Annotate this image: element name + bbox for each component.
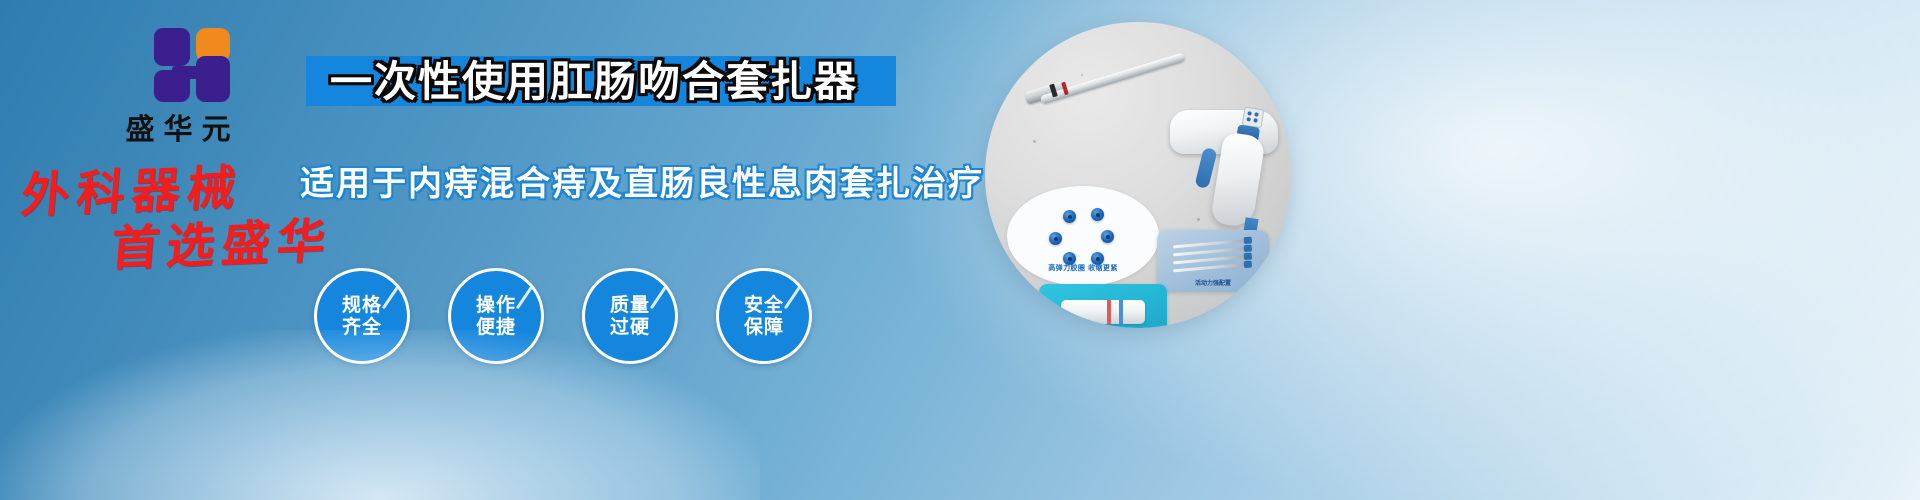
- slogan-line-2: 首选盛华: [109, 201, 336, 279]
- device-shaft: [1040, 52, 1186, 104]
- brand-logo-block[interactable]: 盛华元: [78, 26, 278, 148]
- slash-decor-icon: [382, 283, 401, 310]
- feature-badge-2-line1: 操作: [476, 294, 516, 316]
- product-photo[interactable]: 高弹力胶圈 收缩更紧 活动力强配置: [985, 22, 1291, 328]
- cartridge-inset: [1039, 284, 1167, 328]
- feature-badge-4[interactable]: 安全 保障: [716, 268, 812, 364]
- feature-badge-2-line2: 便捷: [476, 316, 516, 338]
- slash-decor-icon: [784, 283, 803, 310]
- feature-badge-1-line2: 齐全: [342, 316, 382, 338]
- feature-badge-3-line1: 质量: [610, 294, 650, 316]
- rubber-rings-inset: 高弹力胶圈 收缩更紧: [1007, 186, 1159, 286]
- promo-banner: 盛华元 外科器械 首选盛华 一次性使用肛肠吻合套扎器 适用于内痔混合痔及直肠良性…: [0, 0, 1920, 500]
- brand-name: 盛华元: [78, 106, 278, 148]
- feature-badge-1[interactable]: 规格 齐全: [314, 268, 410, 364]
- shenghuayuan-logo-icon: [132, 26, 224, 102]
- page-title: 一次性使用肛肠吻合套扎器: [330, 48, 950, 109]
- feature-badge-4-line1: 安全: [744, 294, 784, 316]
- needles-caption: 活动力强配置: [1157, 278, 1269, 287]
- feature-badge-3-line2: 过硬: [610, 316, 650, 338]
- cartridge: [1061, 300, 1145, 324]
- page-subtitle: 适用于内痔混合痔及直肠良性息肉套扎治疗: [300, 156, 1000, 205]
- feature-badge-1-line1: 规格: [342, 294, 382, 316]
- feature-badge-4-line2: 保障: [744, 316, 784, 338]
- feature-badge-2[interactable]: 操作 便捷: [448, 268, 544, 364]
- feature-badge-list: 规格 齐全 操作 便捷 质量 过硬 安全 保障: [314, 268, 812, 364]
- feature-badge-3[interactable]: 质量 过硬: [582, 268, 678, 364]
- slash-decor-icon: [516, 283, 535, 310]
- rings-caption: 高弹力胶圈 收缩更紧: [1007, 263, 1159, 273]
- slash-decor-icon: [650, 283, 669, 310]
- needles-inset: 活动力强配置: [1157, 230, 1269, 292]
